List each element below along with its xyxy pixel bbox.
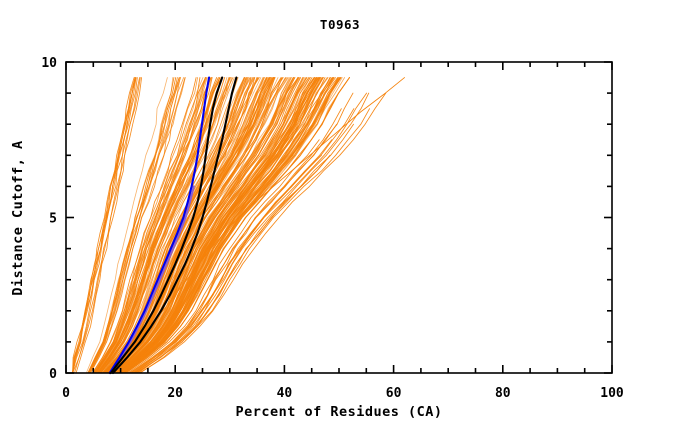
x-tick-label: 0 — [62, 386, 70, 401]
x-tick-label: 60 — [386, 386, 402, 401]
distance-cutoff-plot: T0963 0204060801000510 Percent of Residu… — [0, 0, 680, 440]
chart-title: T0963 — [320, 17, 360, 32]
x-tick-label: 20 — [167, 386, 183, 401]
x-tick-label: 80 — [495, 386, 511, 401]
y-tick-label: 0 — [49, 367, 57, 382]
y-axis-title: Distance Cutoff, A — [10, 140, 26, 295]
plot-background — [0, 0, 680, 440]
x-tick-label: 100 — [600, 386, 624, 401]
x-axis-title: Percent of Residues (CA) — [235, 404, 442, 420]
x-tick-label: 40 — [277, 386, 293, 401]
y-tick-label: 10 — [41, 56, 57, 71]
chart-figure: T0963 0204060801000510 Percent of Residu… — [0, 0, 680, 440]
y-tick-label: 5 — [49, 212, 57, 227]
